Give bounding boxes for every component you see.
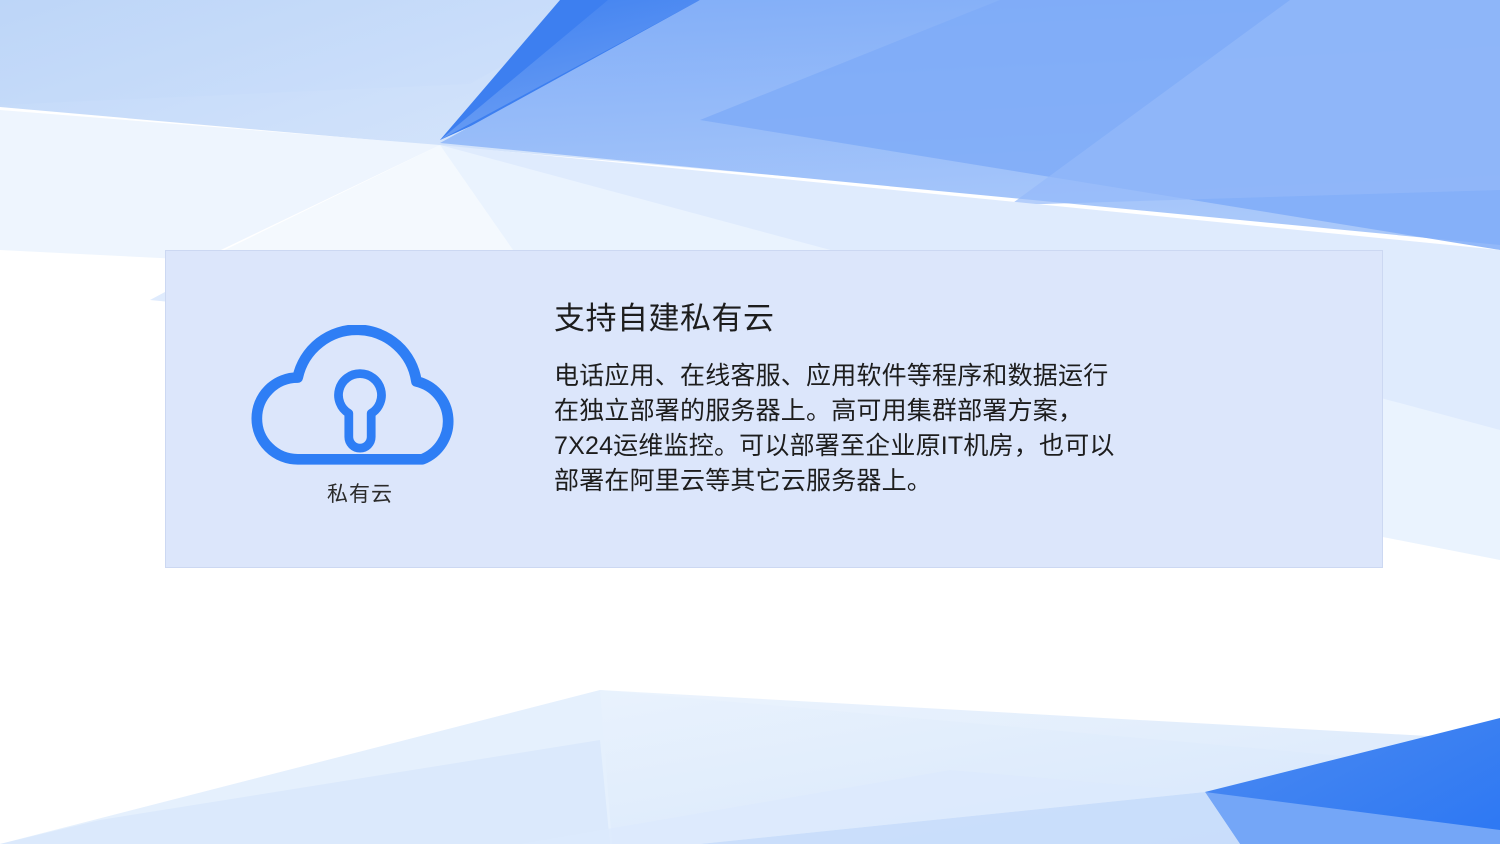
bg-shape-top-right-deep [700,0,1500,250]
private-cloud-lock-icon [244,325,476,471]
card-title: 支持自建私有云 [554,300,1292,339]
bg-shape-top-mid-dark [440,0,700,140]
card-body-line: 部署在阿里云等其它云服务器上。 [554,464,1292,499]
icon-caption: 私有云 [327,481,393,508]
bg-shape-bottom-right-pale [520,770,1205,844]
bg-shape-bottom-left-b [0,740,610,844]
bg-shape-bottom-right-deep [1205,718,1500,844]
slide-root: 私有云 支持自建私有云 电话应用、在线客服、应用软件等程序和数据运行 在独立部署… [0,0,1500,844]
bg-shape-bottom-right-mid [1205,792,1500,844]
bg-shape-top-left-band [0,0,620,105]
bg-shape-top-right-field [440,0,1500,245]
bg-shape-bottom-right-light [700,792,1240,844]
bg-shape-top-right-streak [1010,0,1500,205]
bg-shape-bottom-left-a [0,690,1500,844]
card-body-line: 在独立部署的服务器上。高可用集群部署方案， [554,394,1292,429]
bg-shape-top-left-wide [0,0,1010,196]
bg-shape-upper-fan-c [0,110,440,260]
card-body-line: 电话应用、在线客服、应用软件等程序和数据运行 [554,359,1292,394]
bg-shape-bottom-left-c [600,690,1500,844]
card-icon-column: 私有云 [166,251,554,508]
card-text-column: 支持自建私有云 电话应用、在线客服、应用软件等程序和数据运行 在独立部署的服务器… [554,251,1382,499]
card-body-line: 7X24运维监控。可以部署至企业原IT机房，也可以 [554,429,1292,464]
private-cloud-feature-card: 私有云 支持自建私有云 电话应用、在线客服、应用软件等程序和数据运行 在独立部署… [165,250,1383,568]
card-body-text: 电话应用、在线客服、应用软件等程序和数据运行 在独立部署的服务器上。高可用集群部… [554,359,1292,499]
bg-shape-top-mid-wedge [440,0,700,140]
bg-shape-upper-fan-d [200,145,520,262]
